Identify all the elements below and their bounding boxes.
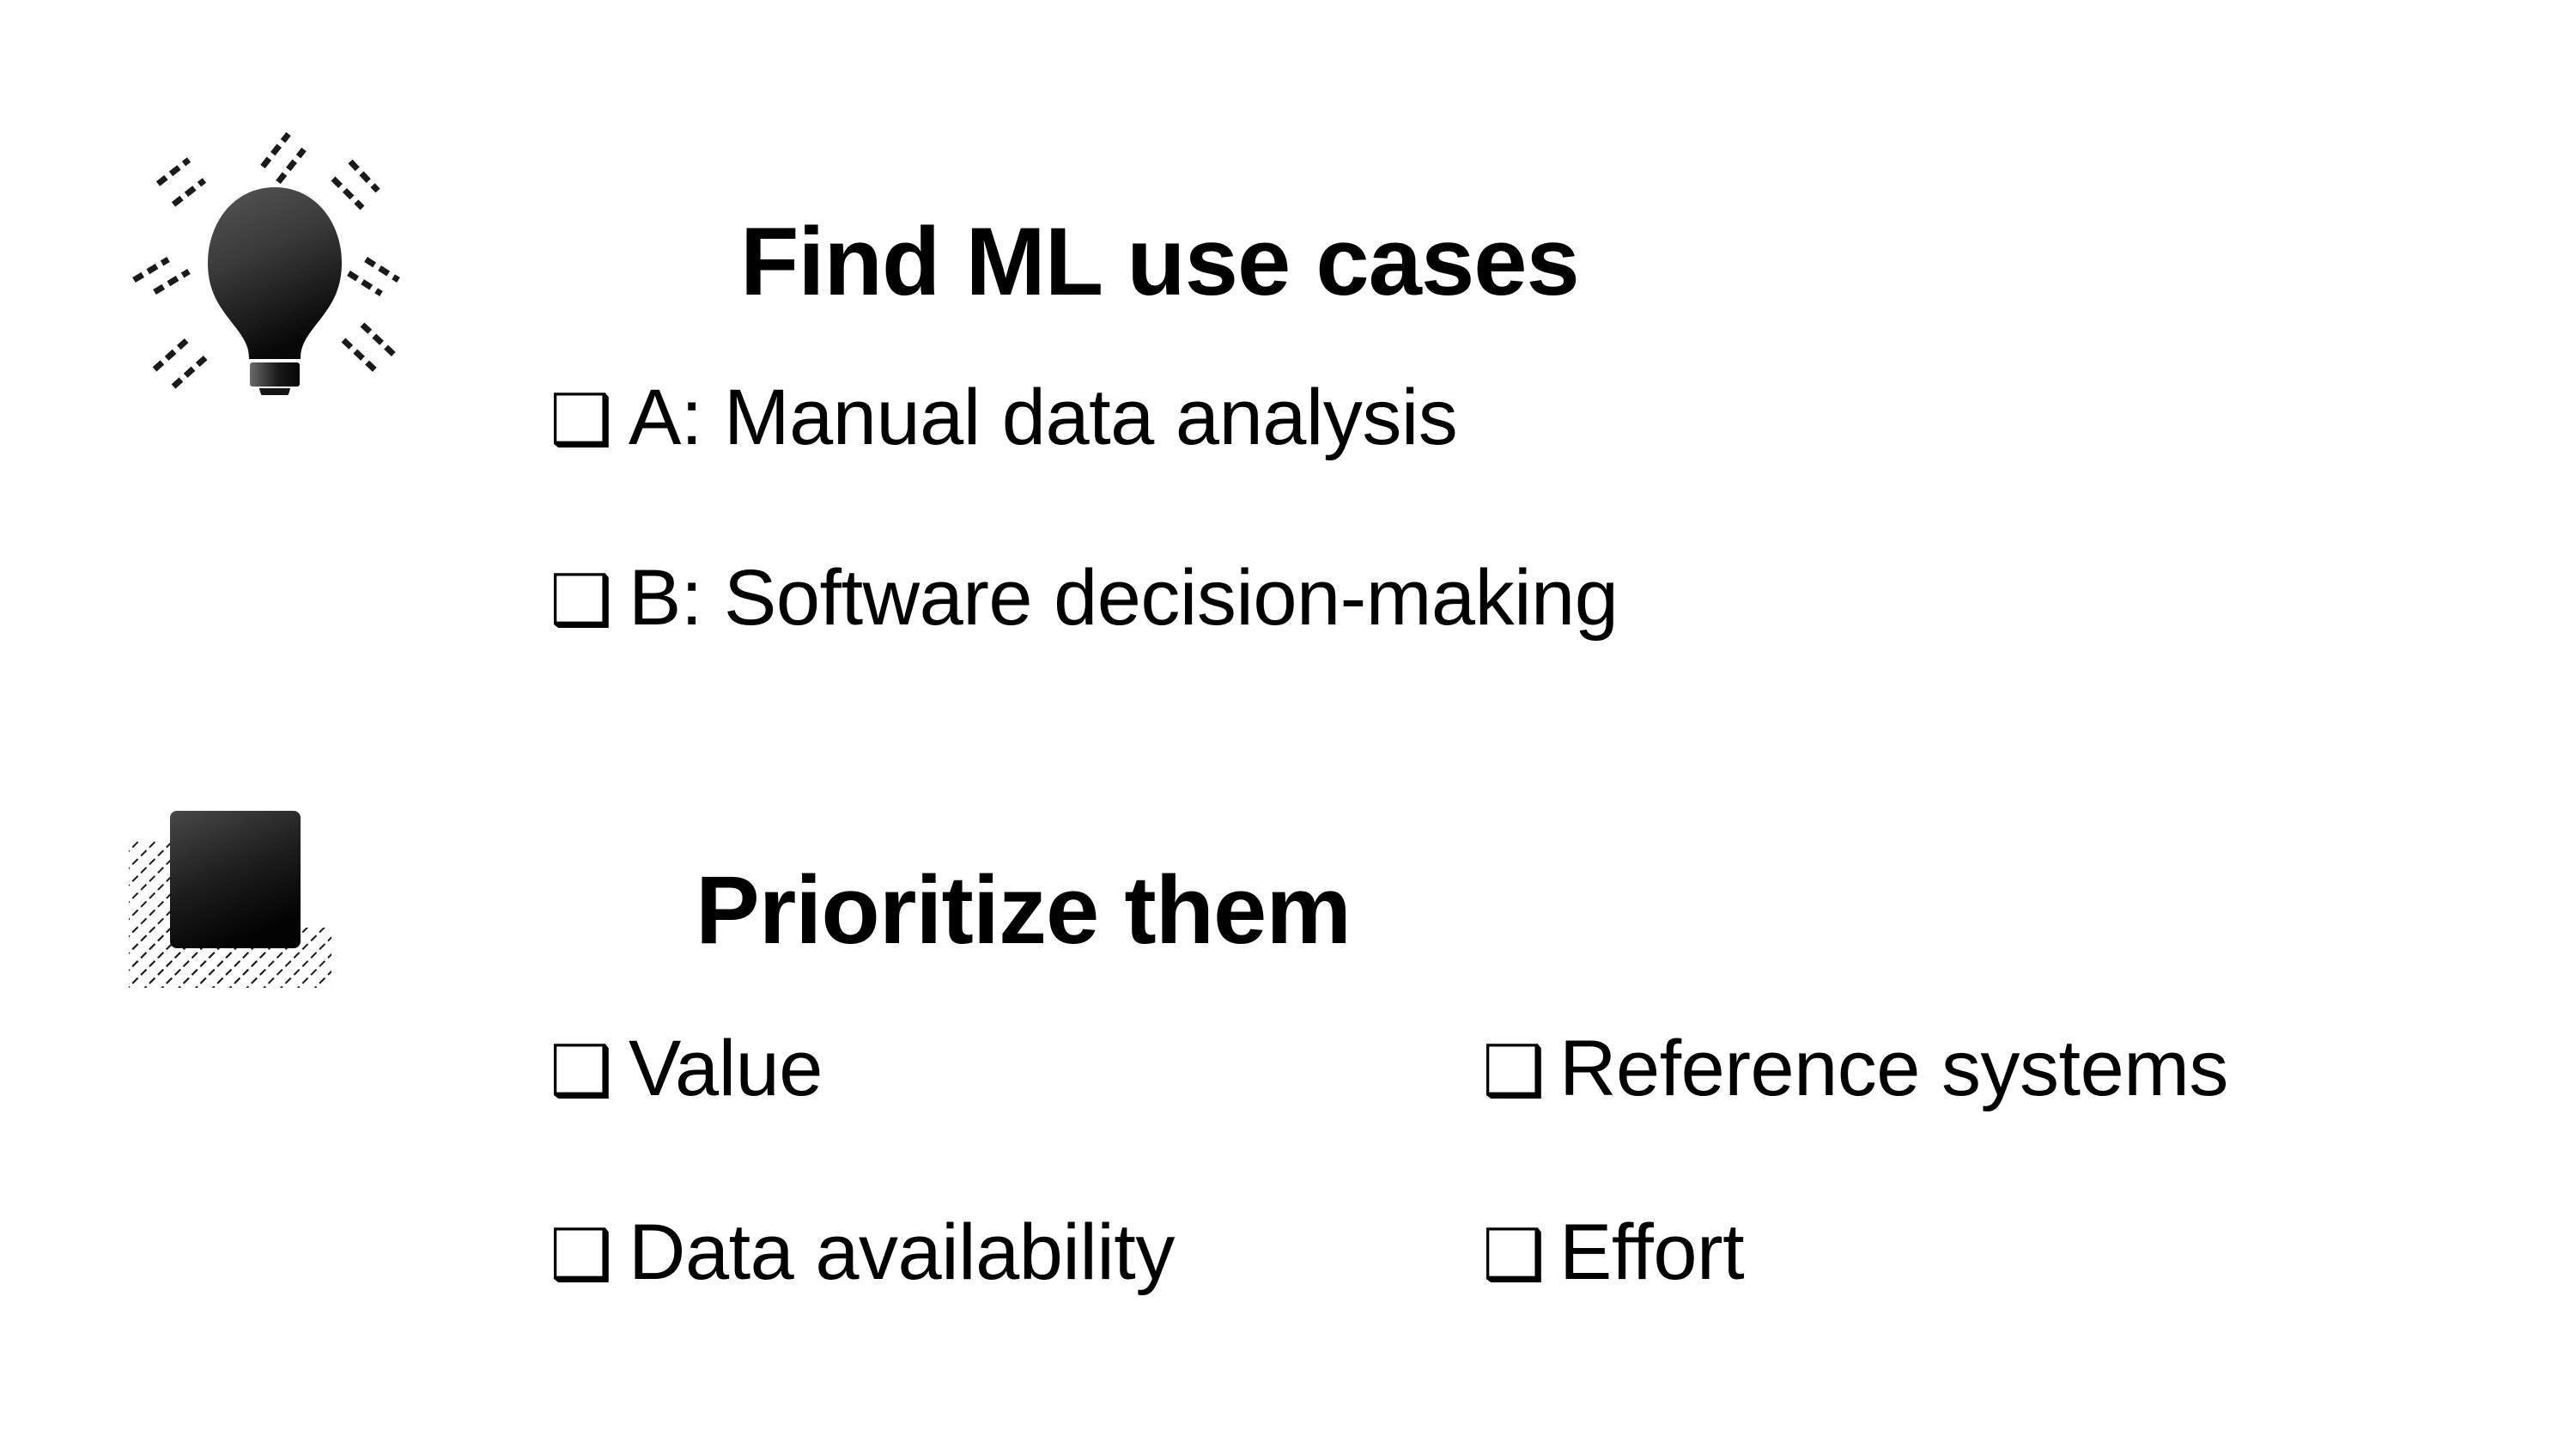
list-item[interactable]: ❑ Effort	[1482, 1213, 1744, 1292]
shadowed-square-bullet-icon: ❑	[550, 386, 629, 456]
list-item-label: B: Software decision-making	[629, 558, 1618, 637]
lightbulb-icon	[129, 129, 421, 395]
list-item[interactable]: ❑ Reference systems	[1482, 1029, 2228, 1108]
shadowed-square-bullet-icon: ❑	[1482, 1037, 1559, 1107]
list-item-label: Effort	[1559, 1213, 1744, 1292]
section-header-find-ml-use-cases: Find ML use cases	[129, 129, 1579, 395]
section-header-prioritize-them: Prioritize them	[129, 799, 1351, 1022]
slide-canvas: Find ML use cases ❑ A: Manual data analy…	[0, 0, 2576, 1449]
list-item[interactable]: ❑ Value	[550, 1029, 823, 1108]
list-item-label: Value	[629, 1029, 823, 1108]
section-title-prioritize-them: Prioritize them	[696, 862, 1351, 959]
shadowed-square-bullet-icon: ❑	[1482, 1221, 1559, 1291]
list-item[interactable]: ❑ A: Manual data analysis	[550, 378, 1457, 457]
list-item[interactable]: ❑ B: Software decision-making	[550, 558, 1618, 637]
list-item[interactable]: ❑ Data availability	[550, 1213, 1175, 1292]
hatched-square-icon	[129, 799, 386, 1022]
shadowed-square-bullet-icon: ❑	[550, 1037, 629, 1107]
list-item-label: Reference systems	[1559, 1029, 2228, 1108]
shadowed-square-bullet-icon: ❑	[550, 1221, 629, 1291]
list-item-label: Data availability	[629, 1213, 1175, 1292]
shadowed-square-bullet-icon: ❑	[550, 566, 629, 636]
list-item-label: A: Manual data analysis	[629, 378, 1457, 457]
section-title-find-ml-use-cases: Find ML use cases	[740, 214, 1579, 310]
